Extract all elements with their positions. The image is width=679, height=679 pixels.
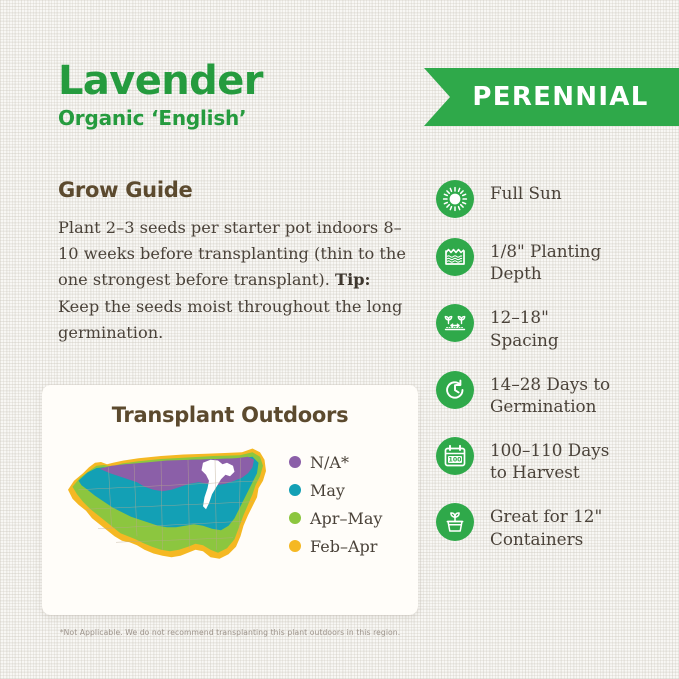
seed-packet-infographic: Lavender Organic ‘English’ PERENNIAL Gro… <box>0 0 679 679</box>
transplant-map-card: Transplant Outdoors <box>42 385 418 615</box>
lifecycle-banner-label: PERENNIAL <box>454 82 648 112</box>
calendar-icon: 100 <box>436 437 474 475</box>
legend-label: N/A* <box>310 453 349 472</box>
attribute-line-2: Spacing <box>490 330 559 350</box>
legend-item: N/A* <box>289 453 382 472</box>
sun-icon <box>436 180 474 218</box>
calendar-badge-number: 100 <box>449 457 463 464</box>
pot-icon <box>436 503 474 541</box>
legend-dot-na-icon <box>289 456 301 468</box>
legend-item: May <box>289 481 382 500</box>
attribute-line-2: Containers <box>490 529 583 549</box>
usa-zone-map <box>56 431 281 586</box>
attribute-text: Great for 12" Containers <box>490 501 602 549</box>
attribute-text: 100–110 Days to Harvest <box>490 435 609 483</box>
legend-dot-apr-may-icon <box>289 512 301 524</box>
plant-variety: Organic ‘English’ <box>58 106 263 130</box>
guide-line-1: Plant 2–3 seeds per starter pot indoors <box>58 218 378 237</box>
usa-map-svg <box>56 431 281 586</box>
grow-guide-section: Grow Guide Plant 2–3 seeds per starter p… <box>58 178 413 346</box>
map-card-title: Transplant Outdoors <box>42 403 418 427</box>
attribute-text: 12–18" Spacing <box>490 302 559 350</box>
plant-name: Lavender <box>58 60 263 102</box>
legend-dot-may-icon <box>289 484 301 496</box>
lifecycle-banner: PERENNIAL <box>424 68 679 126</box>
spacing-icon <box>436 304 474 342</box>
grow-guide-body: Plant 2–3 seeds per starter pot indoors … <box>58 215 413 346</box>
guide-tip-text: Keep the seeds moist throughout <box>58 297 330 316</box>
legend-item: Apr–May <box>289 509 382 528</box>
attribute-row-containers: Great for 12" Containers <box>436 501 676 549</box>
title-block: Lavender Organic ‘English’ <box>58 60 263 130</box>
clock-icon <box>436 371 474 409</box>
legend-label: Apr–May <box>310 509 382 528</box>
map-and-legend-row: N/A* May Apr–May Feb–Apr <box>42 431 418 586</box>
legend-label: May <box>310 481 345 500</box>
legend-label: Feb–Apr <box>310 537 377 556</box>
attribute-row-harvest: 100 100–110 Days to Harvest <box>436 435 676 483</box>
legend-item: Feb–Apr <box>289 537 382 556</box>
attribute-line-1: 12–18" <box>490 307 549 327</box>
map-legend: N/A* May Apr–May Feb–Apr <box>289 453 382 565</box>
legend-dot-feb-apr-icon <box>289 540 301 552</box>
attribute-row-planting-depth: 1/8" Planting Depth <box>436 236 676 284</box>
attribute-line-1: Full Sun <box>490 183 562 203</box>
attribute-row-full-sun: Full Sun <box>436 178 676 218</box>
attribute-text: 1/8" Planting Depth <box>490 236 601 284</box>
guide-tip-label: Tip: <box>335 270 371 289</box>
attribute-line-1: Great for 12" <box>490 506 602 526</box>
attribute-text: Full Sun <box>490 178 562 204</box>
plant-attributes-list: Full Sun 1/8" Planting Depth <box>436 178 676 568</box>
attribute-line-1: 14–28 Days to <box>490 374 610 394</box>
attribute-row-spacing: 12–18" Spacing <box>436 302 676 350</box>
attribute-line-2: to Harvest <box>490 462 580 482</box>
attribute-line-1: 1/8" Planting <box>490 241 601 261</box>
attribute-row-germination: 14–28 Days to Germination <box>436 369 676 417</box>
attribute-line-2: Depth <box>490 263 542 283</box>
grow-guide-heading: Grow Guide <box>58 178 413 202</box>
map-footnote: *Not Applicable. We do not recommend tra… <box>42 628 418 637</box>
depth-icon <box>436 238 474 276</box>
attribute-text: 14–28 Days to Germination <box>490 369 610 417</box>
attribute-line-1: 100–110 Days <box>490 440 609 460</box>
attribute-line-2: Germination <box>490 396 596 416</box>
